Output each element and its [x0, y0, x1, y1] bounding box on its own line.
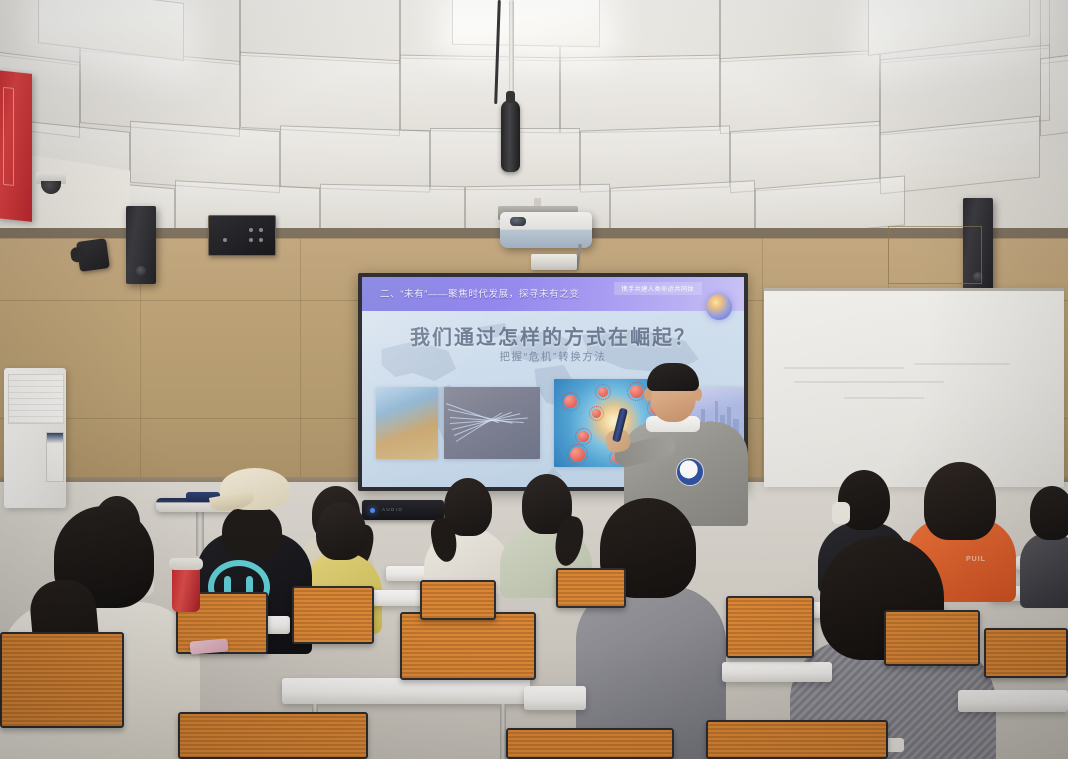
whiteboard[interactable]: [764, 288, 1064, 487]
wall-camera-icon: [76, 238, 110, 272]
chair: [178, 712, 368, 759]
slide-main-title: 我们通过怎样的方式在崛起？: [362, 321, 744, 350]
ceiling-light-2: [452, 0, 600, 47]
chair: [400, 612, 536, 680]
projector: [500, 212, 592, 248]
slide-header-text: 二、“未有”——聚焦时代发展，探寻未有之变: [380, 286, 579, 300]
presenter-badge-logo-icon: [676, 458, 704, 486]
chair: [984, 628, 1068, 678]
desk-front-right: [524, 686, 586, 710]
slide-badge: 携手共建人类命运共同体: [614, 282, 702, 295]
student-dark-right-edge: [1020, 486, 1068, 606]
slide-orb-logo-icon: [706, 294, 732, 320]
slide-badge-text: 携手共建人类命运共同体: [622, 284, 694, 293]
ac-control-panel[interactable]: [46, 432, 64, 482]
student-white-puffer: [424, 478, 510, 590]
whiteboard-ghost-writing: [784, 363, 1024, 407]
coffee-cup-lid: [169, 558, 203, 570]
chair: [506, 728, 674, 759]
slide-photo-earth-from-space: [376, 387, 438, 459]
slide-photo-fiber-network: [444, 387, 540, 459]
dome-camera-icon: [36, 172, 66, 184]
chair: [706, 720, 888, 759]
slide-subtitle: 把握“危机”转换方法: [362, 349, 744, 364]
chair: [292, 586, 374, 644]
microphone-icon: [501, 100, 520, 172]
slide-header-bar: 二、“未有”——聚焦时代发展，探寻未有之变 携手共建人类命运共同体: [362, 277, 744, 311]
ac-grille: [8, 374, 64, 424]
air-conditioner[interactable]: [4, 368, 66, 508]
chair: [884, 610, 980, 666]
projector-lens-icon: [510, 217, 526, 226]
desk-front-center: [282, 678, 530, 704]
presenter-hair: [647, 363, 699, 391]
red-wall-banner: [0, 70, 32, 222]
projector-junction-box: [531, 254, 577, 270]
av-control-panel[interactable]: [208, 215, 276, 256]
coffee-cup: [172, 566, 200, 612]
chair: [0, 632, 124, 728]
desk-far-right: [958, 690, 1068, 712]
student-grey-blazer-front: [576, 498, 726, 759]
audio-device-label: AUDIO: [382, 507, 403, 512]
wall-frame-outline: [888, 226, 982, 284]
chair: [420, 580, 496, 620]
microphone-pole: [509, 0, 514, 105]
desk-mid-right: [722, 662, 832, 682]
chair: [556, 568, 626, 608]
classroom-scene: 二、“未有”——聚焦时代发展，探寻未有之变 携手共建人类命运共同体 我们通过怎样…: [0, 0, 1068, 759]
chair: [726, 596, 814, 658]
speaker-left: [126, 206, 156, 284]
